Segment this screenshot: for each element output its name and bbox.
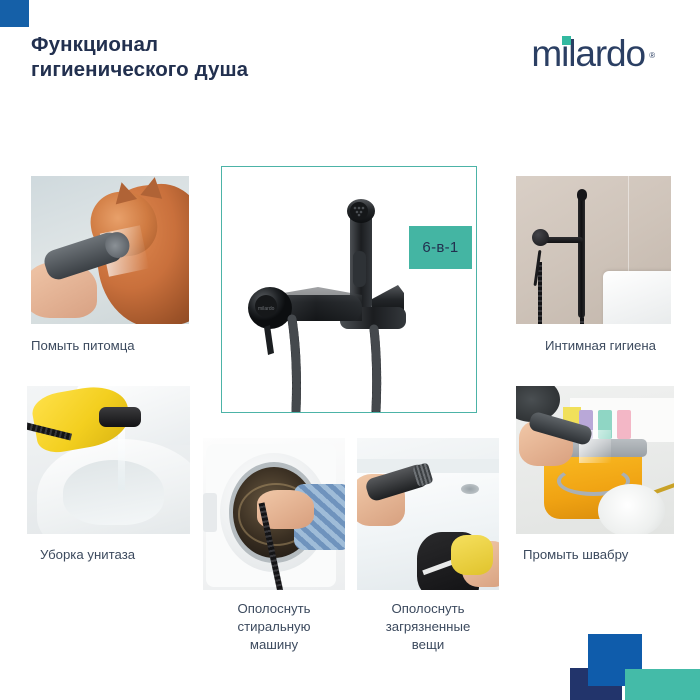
scene-wall-faucet (516, 176, 671, 324)
scene-mop-bucket (516, 386, 674, 534)
product-frame: milardo (221, 166, 477, 413)
scene-toilet-cleaning (27, 386, 190, 534)
corner-decoration-top-left (0, 0, 29, 27)
caption-mop-rinsing: Промыть швабру (523, 546, 700, 564)
registered-trademark-icon: ® (649, 36, 654, 76)
caption-washing-machine: Ополоснуть стиральную машину (203, 600, 345, 654)
photo-tile-toilet-cleaning (27, 386, 190, 534)
photo-tile-dirty-items (357, 438, 499, 590)
corner-decoration-teal-square (625, 669, 700, 700)
scene-shoe-washing (357, 438, 499, 590)
svg-text:milardo: milardo (258, 306, 275, 312)
caption-intimate-hygiene: Интимная гигиена (545, 337, 700, 355)
logo-wordmark: milardo (531, 33, 645, 74)
photo-tile-intimate-hygiene (516, 176, 671, 324)
scene-pet-washing (31, 176, 189, 324)
photo-tile-pet (31, 176, 189, 324)
feature-count-badge: 6-в-1 (409, 226, 472, 269)
photo-tile-washing-machine (203, 438, 345, 590)
caption-dirty-items: Ополоснуть загрязненные вещи (357, 600, 499, 654)
scene-washing-machine (203, 438, 345, 590)
photo-tile-mop-rinsing (516, 386, 674, 534)
caption-pet: Помыть питомца (31, 337, 231, 355)
logo-accent-dot-icon (562, 36, 571, 45)
faucet-illustration: milardo (222, 167, 476, 412)
header: Функционал гигиенического душа milardo ® (31, 32, 671, 98)
brand-logo: milardo ® (531, 34, 645, 74)
